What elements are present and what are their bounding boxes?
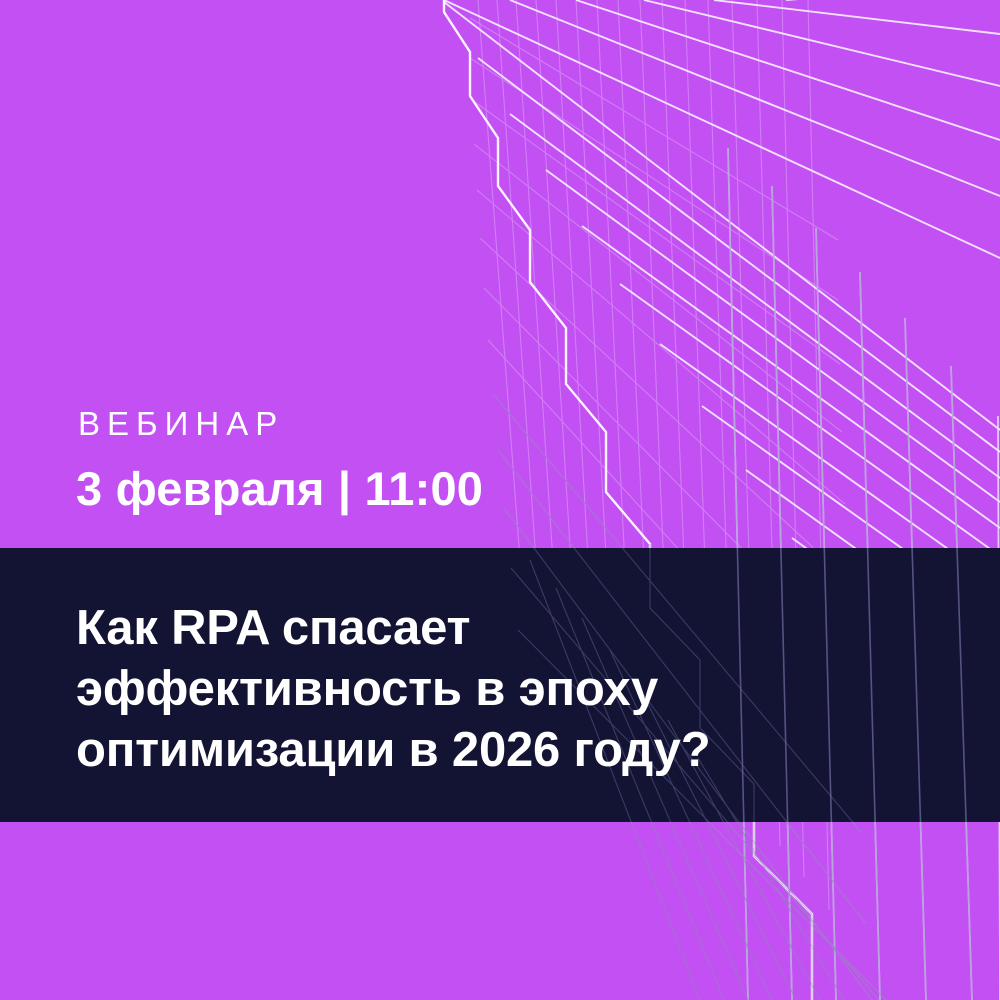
wireframe-step-edge xyxy=(444,0,812,1000)
headline-line-3: оптимизации в 2026 году? xyxy=(76,720,916,781)
headline-line-1: Как RPA спасает xyxy=(76,598,916,659)
wireframe-left-face xyxy=(470,0,886,1000)
webinar-datetime: 3 февраля | 11:00 xyxy=(76,462,483,516)
eyebrow-label: ВЕБИНАР xyxy=(78,407,284,440)
headline: Как RPA спасает эффективность в эпоху оп… xyxy=(76,598,916,781)
headline-line-2: эффективность в эпоху xyxy=(76,659,916,720)
webinar-banner: ВЕБИНАР 3 февраля | 11:00 Как RPA спасае… xyxy=(0,0,1000,1000)
